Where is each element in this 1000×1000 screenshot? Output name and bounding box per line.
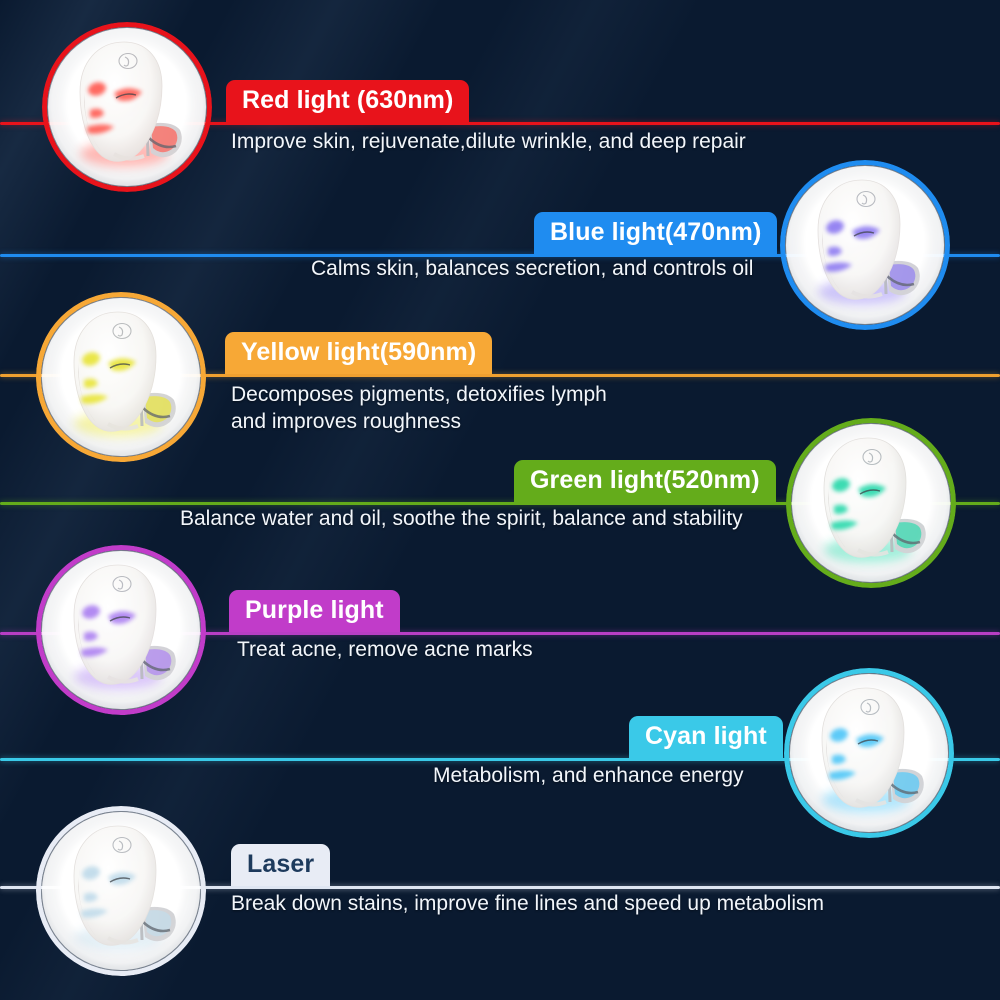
mode-badge-laser[interactable]: Laser	[231, 844, 330, 886]
mode-badge-yellow[interactable]: Yellow light(590nm)	[225, 332, 492, 374]
mask-ring-yellow	[36, 292, 206, 462]
mode-badge-cyan[interactable]: Cyan light	[629, 716, 783, 758]
product-infographic-poster: Red light (630nm)Improve skin, rejuvenat…	[0, 0, 1000, 1000]
mode-description-purple: Treat acne, remove acne marks	[237, 636, 533, 663]
mask-ring-red	[42, 22, 212, 192]
mask-ring-laser	[36, 806, 206, 976]
mask-ring-blue	[780, 160, 950, 330]
mode-badge-green[interactable]: Green light(520nm)	[514, 460, 776, 502]
mask-photo-laser	[36, 806, 206, 976]
mask-ring-purple	[36, 545, 206, 715]
mode-description-laser: Break down stains, improve fine lines an…	[231, 890, 824, 917]
mask-photo-purple	[36, 545, 206, 715]
mode-description-red: Improve skin, rejuvenate,dilute wrinkle,…	[231, 128, 746, 155]
mask-photo-yellow	[36, 292, 206, 462]
mask-photo-cyan	[784, 668, 954, 838]
mode-badge-red[interactable]: Red light (630nm)	[226, 80, 469, 122]
mask-ring-green	[786, 418, 956, 588]
mask-ring-cyan	[784, 668, 954, 838]
mode-badge-purple[interactable]: Purple light	[229, 590, 400, 632]
mode-description-cyan: Metabolism, and enhance energy	[433, 762, 744, 789]
mode-description-blue: Calms skin, balances secretion, and cont…	[311, 255, 753, 282]
mask-photo-green	[786, 418, 956, 588]
mode-description-green: Balance water and oil, soothe the spirit…	[180, 505, 743, 532]
mask-photo-blue	[780, 160, 950, 330]
mode-description-yellow: Decomposes pigments, detoxifies lymph an…	[231, 381, 607, 436]
mask-photo-red	[42, 22, 212, 192]
mode-badge-blue[interactable]: Blue light(470nm)	[534, 212, 777, 254]
